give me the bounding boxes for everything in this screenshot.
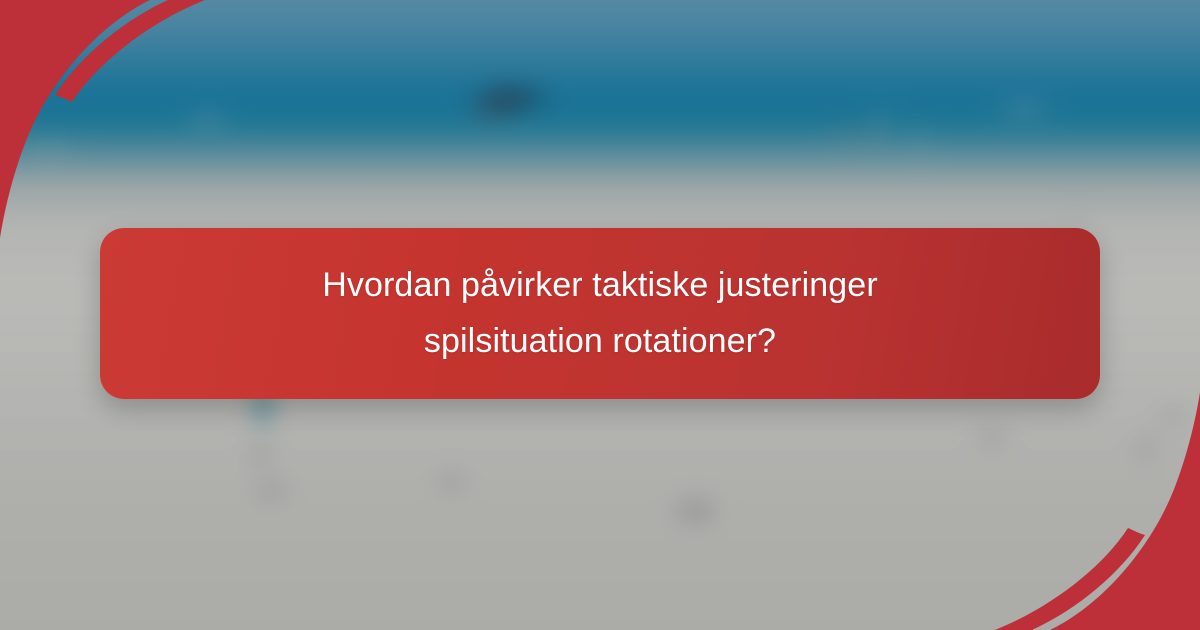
question-text: Hvordan påvirker taktiske justeringer sp… <box>270 258 930 368</box>
question-card: Hvordan påvirker taktiske justeringer sp… <box>100 228 1100 399</box>
og-image-canvas: Hvordan påvirker taktiske justeringer sp… <box>0 0 1200 630</box>
